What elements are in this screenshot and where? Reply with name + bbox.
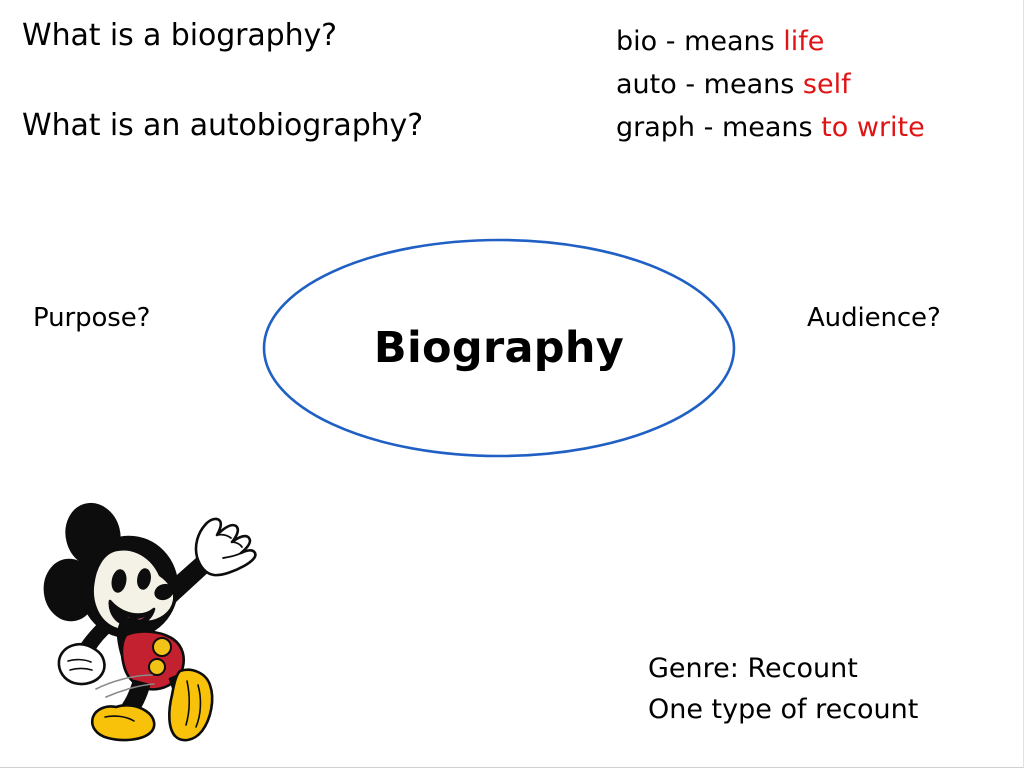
mickey-glove-left — [59, 644, 105, 684]
mickey-shoe-left — [92, 705, 154, 740]
word-root-term: graph - means — [616, 112, 821, 143]
word-roots-list: bio - means life auto - means self graph… — [616, 20, 925, 149]
word-root-term: bio - means — [616, 26, 783, 57]
word-root-item: auto - means self — [616, 63, 925, 106]
word-root-item: bio - means life — [616, 20, 925, 63]
mickey-shorts-button-upper — [153, 638, 171, 656]
slide-canvas: What is a biography? What is an autobiog… — [0, 0, 1024, 768]
question-autobiography: What is an autobiography? — [22, 106, 423, 146]
prompt-audience: Audience? — [807, 303, 941, 333]
word-root-term: auto - means — [616, 69, 803, 100]
word-root-meaning: self — [803, 69, 851, 100]
mickey-shorts-button-lower — [149, 659, 165, 675]
word-root-item: graph - means to write — [616, 106, 925, 149]
question-biography: What is a biography? — [22, 16, 337, 56]
genre-line-2: One type of recount — [648, 689, 918, 730]
genre-note: Genre: Recount One type of recount — [648, 648, 918, 730]
mickey-shoe-right — [169, 670, 212, 740]
central-concept-ellipse: Biography — [260, 237, 738, 459]
prompt-purpose: Purpose? — [33, 303, 150, 333]
central-concept-label: Biography — [260, 237, 738, 459]
mickey-glove-pointing — [196, 519, 255, 575]
word-root-meaning: life — [783, 26, 824, 57]
mickey-mouse-illustration — [30, 495, 280, 745]
word-root-meaning: to write — [821, 112, 925, 143]
genre-line-1: Genre: Recount — [648, 648, 918, 689]
